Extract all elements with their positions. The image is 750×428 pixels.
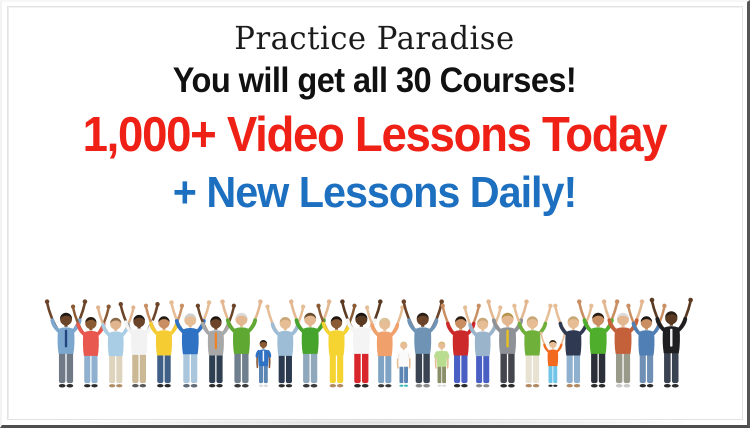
crowd-figure xyxy=(553,304,593,388)
brand-name: Practice Paradise xyxy=(23,19,727,57)
crowd-figure xyxy=(265,305,305,388)
crowd-figure xyxy=(119,302,160,387)
promo-banner: Practice Paradise You will get all 30 Co… xyxy=(0,0,750,428)
crowd-figure xyxy=(144,304,184,388)
crowd-ground-shadow xyxy=(60,419,685,426)
crowd-figure xyxy=(602,299,644,387)
crowd-figure xyxy=(257,340,270,387)
crowd-figure xyxy=(512,304,552,388)
crowd-figure xyxy=(220,299,262,387)
crowd-figure xyxy=(650,298,693,388)
crowd-figure xyxy=(289,299,331,387)
crowd-figure xyxy=(71,305,111,388)
courses-headline: You will get all 30 Courses! xyxy=(34,60,716,102)
crowd-figure xyxy=(45,299,87,387)
crowd-figure xyxy=(196,304,236,388)
video-lessons-headline: 1,000+ Video Lessons Today xyxy=(34,107,716,163)
crowd-figure xyxy=(340,299,382,387)
crowd-figure xyxy=(626,304,666,388)
crowd-figure xyxy=(435,341,448,386)
crowd-figure xyxy=(540,332,566,387)
crowd-figure xyxy=(316,304,356,388)
new-lessons-daily-headline: + New Lessons Daily! xyxy=(30,167,719,219)
crowd-photo xyxy=(9,252,740,412)
crowd-figure xyxy=(169,300,211,387)
crowd-of-diverse-people-cheering-illustration xyxy=(9,252,740,412)
crowd-figure xyxy=(96,305,135,387)
headline-block: Practice Paradise You will get all 30 Co… xyxy=(8,8,741,219)
crowd-figure xyxy=(365,305,404,387)
crowd-figure xyxy=(577,299,619,387)
crowd-figure xyxy=(463,305,502,387)
crowd-figure xyxy=(397,341,410,386)
crowd-figure xyxy=(486,299,528,387)
